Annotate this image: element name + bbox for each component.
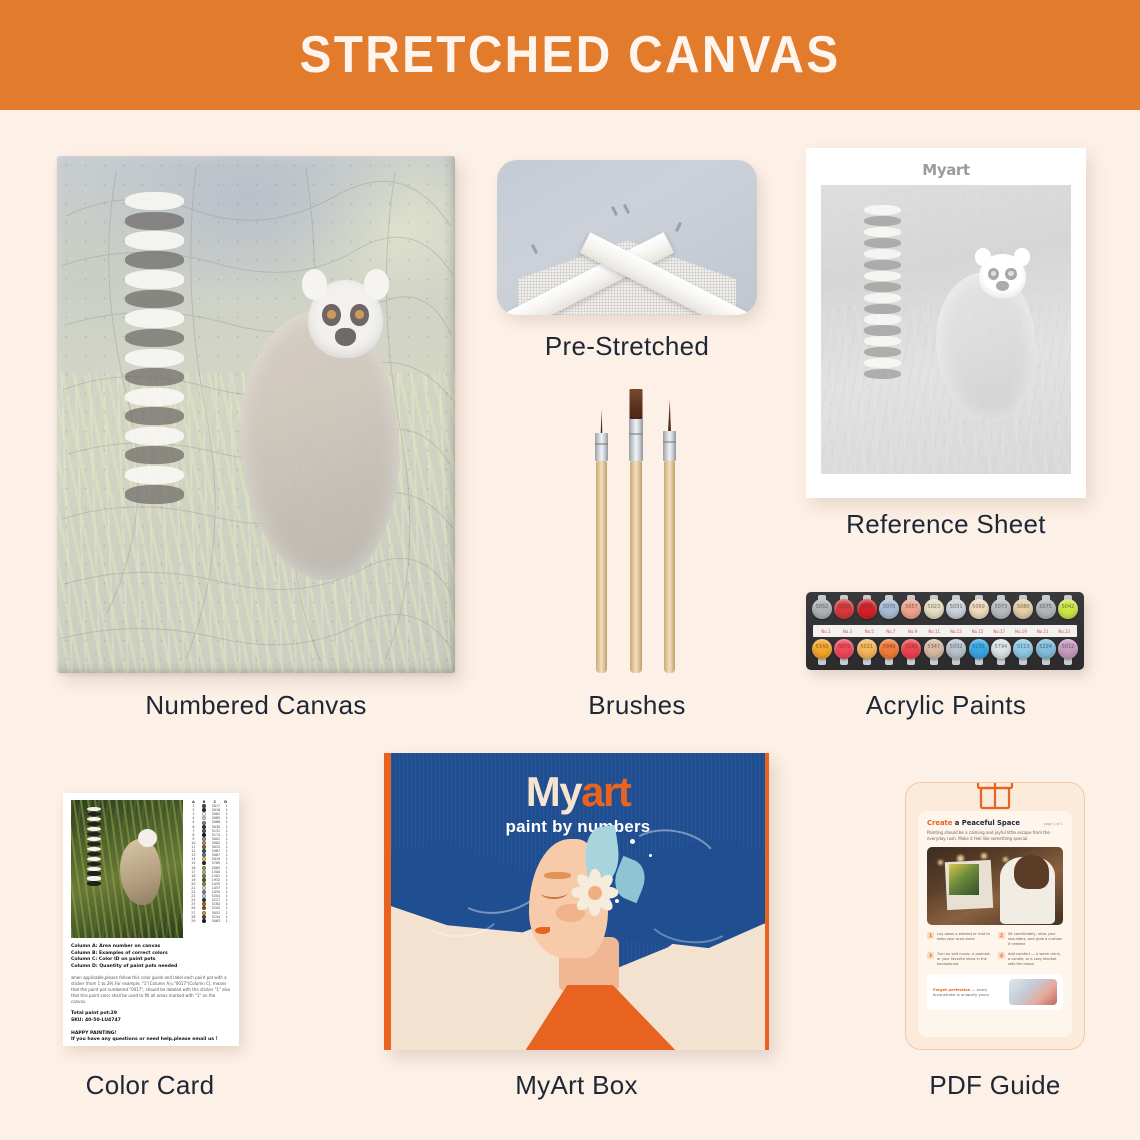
paint-pot-tab — [885, 658, 893, 665]
pdf-guide-page-number: page 1 of 1 — [1044, 822, 1063, 826]
numbered-canvas-image — [57, 156, 455, 673]
caption-brushes: Brushes — [497, 690, 777, 721]
paint-pot: 5080 — [1013, 597, 1033, 623]
paint-pot-code: 5132 — [969, 644, 989, 650]
paint-pot: 5075 — [1036, 597, 1056, 623]
caption-pre-stretched: Pre-Stretched — [497, 331, 757, 362]
cc-area-number: 29 — [188, 919, 199, 923]
pdf-guide-title-rest: a Peaceful Space — [952, 819, 1020, 827]
paint-pot: 5794 — [991, 637, 1011, 663]
brand-my-text: My — [526, 768, 581, 815]
cc-swatch-cell — [199, 919, 210, 923]
total-paint-pot: Total paint pot:29 — [71, 1011, 231, 1018]
paint-label-cell: No.5 — [858, 629, 880, 634]
lemur-ear-left — [302, 269, 328, 300]
paint-pot-code: 5794 — [991, 644, 1011, 650]
pdf-guide-footer-note: Forget perfection — every brushstroke is… — [927, 974, 1063, 1010]
lemur-snout — [335, 328, 356, 346]
paint-pot: 5042 — [1058, 597, 1078, 623]
legend-line: Column C: Color ID on paint pots — [71, 957, 231, 964]
lemur-face — [321, 300, 369, 343]
paint-pot: 5070 — [879, 597, 899, 623]
color-card-note: when applicable,please follow this color… — [71, 975, 231, 1005]
paint-pot-code: 5057 — [901, 604, 921, 610]
paint-label-cell: No.7 — [880, 629, 902, 634]
color-swatch — [202, 919, 206, 923]
lemur-eye-patch-left — [322, 304, 340, 327]
brand-art-text: art — [581, 768, 630, 815]
pdf-guide-title: Create a Peaceful Space — [927, 819, 1020, 827]
tip-text: Lay down a blanket or mat to keep your a… — [937, 932, 992, 947]
illustration-lips — [535, 927, 550, 934]
paint-pot-tab — [1064, 658, 1072, 665]
paint-pot: 5021 — [857, 637, 877, 663]
cc-quantity: 1 — [222, 919, 231, 923]
paint-pot-code: 5021 — [857, 604, 877, 610]
paint-pot-tab — [863, 658, 871, 665]
pdf-guide-tip: 4Add comfort — a warm drink, a candle, o… — [998, 952, 1063, 967]
color-card-photo — [71, 800, 183, 938]
paint-pot: 5031 — [946, 597, 966, 623]
staple-icon — [623, 204, 630, 214]
lemur-head-shape — [308, 280, 384, 358]
contact-text: If you have any questions or need help,p… — [71, 1037, 231, 1044]
tip-text: Add comfort — a warm drink, a candle, or… — [1008, 952, 1063, 967]
pdf-guide-photo — [927, 847, 1063, 925]
paint-pot-code: 5012 — [1058, 644, 1078, 650]
paint-pot-tab — [840, 658, 848, 665]
paint-label-cell: No.19 — [1010, 629, 1032, 634]
pdf-guide-thumb-image — [1009, 979, 1057, 1005]
pdf-guide-tip: 1Lay down a blanket or mat to keep your … — [927, 932, 992, 947]
brand-tagline: paint by numbers — [391, 817, 765, 837]
paint-pot-tab — [1042, 658, 1050, 665]
legend-line: Column A: Area number on canvas — [71, 944, 231, 951]
page-title: STRETCHED CANVAS — [300, 25, 841, 85]
color-card-image: A B C D 15017125018135062145065155066165… — [63, 793, 239, 1046]
paint-pot-row-top: 5052503450215070505750235031506950735080… — [812, 597, 1078, 625]
paint-pot-code: 5069 — [969, 604, 989, 610]
reference-sheet-artwork — [821, 185, 1071, 474]
staple-icon — [611, 206, 618, 216]
caption-color-card: Color Card — [40, 1070, 260, 1101]
illustration-closed-eye — [541, 887, 567, 899]
paint-pot-code: 5080 — [1013, 604, 1033, 610]
caption-reference-sheet: Reference Sheet — [806, 509, 1086, 540]
caption-acrylic-paints: Acrylic Paints — [806, 690, 1086, 721]
pdf-guide-tips-grid: 1Lay down a blanket or mat to keep your … — [927, 932, 1063, 967]
paint-pot-code: 5070 — [834, 644, 854, 650]
paint-pot: 5021 — [857, 597, 877, 623]
lemur-ringed-tail — [125, 192, 185, 518]
paint-label-cell: No.23 — [1053, 629, 1075, 634]
paint-pot: 5192 — [901, 637, 921, 663]
paint-label-cell: No.3 — [837, 629, 859, 634]
paint-label-cell: No.9 — [902, 629, 924, 634]
brushes-image — [592, 388, 680, 673]
paint-pot-code: 5075 — [1036, 604, 1056, 610]
paint-pot: 5113 — [1013, 637, 1033, 663]
caption-pdf-guide: PDF Guide — [905, 1070, 1085, 1101]
paint-pot-code: 5224 — [1036, 644, 1056, 650]
paint-label-cell: No.13 — [945, 629, 967, 634]
paint-label-cell: No.17 — [988, 629, 1010, 634]
paint-pot: 5940 — [879, 637, 899, 663]
paint-pot: 5034 — [834, 597, 854, 623]
tip-number-badge: 4 — [998, 952, 1005, 959]
paint-pot-row-bottom: 5143507050215940519253475032513257945113… — [812, 637, 1078, 665]
paint-label-cell: No.1 — [815, 629, 837, 634]
paint-pot-code: 5143 — [812, 644, 832, 650]
cc-color-id: 5063 — [210, 919, 223, 923]
color-card-lemur-tail — [87, 807, 102, 890]
paint-label-strip: No.1No.3No.5No.7No.9No.11No.13No.15No.17… — [813, 625, 1077, 637]
pre-stretched-image — [497, 160, 757, 315]
brush-round-thin — [596, 415, 607, 673]
paint-pot-code: 5032 — [946, 644, 966, 650]
gift-icon — [972, 782, 1018, 811]
lemur-eye-left — [327, 310, 335, 318]
paint-pot: 5057 — [901, 597, 921, 623]
paint-pot: 5347 — [924, 637, 944, 663]
brush-flat — [630, 388, 642, 673]
paint-pot-code: 5347 — [924, 644, 944, 650]
tip-number-badge: 3 — [927, 952, 934, 959]
paint-pot: 5070 — [834, 637, 854, 663]
caption-myart-box: MyArt Box — [384, 1070, 769, 1101]
paint-pot-code: 5940 — [879, 644, 899, 650]
sku-text: SKU: 40-50-LU4747 — [71, 1018, 231, 1025]
myart-box-image: Myart paint by numbers — [384, 753, 769, 1050]
paint-pot: 5073 — [991, 597, 1011, 623]
box-front-face: Myart paint by numbers — [391, 753, 765, 1050]
acrylic-paints-image: 5052503450215070505750235031506950735080… — [806, 592, 1084, 670]
paint-pot-code: 5113 — [1013, 644, 1033, 650]
lemur-eye-right — [355, 310, 363, 318]
paint-pot-code: 5031 — [946, 604, 966, 610]
paint-pot: 5132 — [969, 637, 989, 663]
legend-line: Column D: Quantity of paint pots needed — [71, 964, 231, 971]
myart-brand-block: Myart paint by numbers — [391, 769, 765, 837]
reference-lemur-tail — [864, 205, 902, 387]
reference-sheet-image: Myart — [806, 148, 1086, 498]
paint-pot: 5023 — [924, 597, 944, 623]
illustration-eyebrow — [544, 872, 570, 879]
paint-pot-tab — [818, 658, 826, 665]
myart-logo-text: Myart — [821, 161, 1071, 179]
paint-pot-tab — [952, 658, 960, 665]
staple-icon — [531, 244, 538, 254]
paint-pot-tab — [1019, 658, 1027, 665]
pdf-guide-title-accent: Create — [927, 819, 952, 827]
paint-pot-code: 5034 — [834, 604, 854, 610]
paint-pot: 5032 — [946, 637, 966, 663]
paint-pot: 5052 — [812, 597, 832, 623]
paint-pot-code: 5192 — [901, 644, 921, 650]
paint-pot-tab — [907, 658, 915, 665]
paint-pot-code: 5021 — [857, 644, 877, 650]
color-card-table: A B C D 15017125018135062145065155066165… — [188, 800, 231, 938]
paint-pot-tab — [975, 658, 983, 665]
tip-text: Sit comfortably, relax your shoulders, a… — [1008, 932, 1063, 947]
pdf-guide-tip: 2Sit comfortably, relax your shoulders, … — [998, 932, 1063, 947]
daisy-flower-icon — [571, 866, 620, 919]
paint-pot-code: 5073 — [991, 604, 1011, 610]
color-card-row: 2950631 — [188, 919, 231, 923]
staple-icon — [675, 222, 682, 232]
color-card-legend: Column A: Area number on canvas Column B… — [71, 944, 231, 970]
paint-pot-code: 5052 — [812, 604, 832, 610]
paint-pot-code: 5070 — [879, 604, 899, 610]
paint-label-cell: No.15 — [967, 629, 989, 634]
tip-number-badge: 1 — [927, 932, 934, 939]
pdf-guide-page: Create a Peaceful Space page 1 of 1 Pain… — [918, 811, 1072, 1037]
paint-pot: 5143 — [812, 637, 832, 663]
footer-accent-text: Forget perfection — [933, 987, 970, 992]
lemur-eye-patch-right — [350, 304, 368, 327]
paint-pot-tab — [930, 658, 938, 665]
infographic-page: STRETCHED CANVAS — [0, 0, 1140, 1140]
paint-pot: 5224 — [1036, 637, 1056, 663]
caption-numbered-canvas: Numbered Canvas — [57, 690, 455, 721]
brush-round-medium — [664, 401, 675, 673]
pdf-guide-tip: 3Turn on soft music, a podcast, or your … — [927, 952, 992, 967]
tip-number-badge: 2 — [998, 932, 1005, 939]
paint-pot-code: 5042 — [1058, 604, 1078, 610]
sparkle-dot — [649, 854, 652, 857]
paint-pot: 5012 — [1058, 637, 1078, 663]
page-header: STRETCHED CANVAS — [0, 0, 1140, 110]
pdf-guide-image: Create a Peaceful Space page 1 of 1 Pain… — [905, 782, 1085, 1050]
reference-lemur-head — [979, 254, 1027, 297]
tip-text: Turn on soft music, a podcast, or your f… — [937, 952, 992, 967]
paint-label-cell: No.11 — [923, 629, 945, 634]
pdf-guide-subtitle: Painting should be a calming and joyful … — [927, 830, 1063, 841]
paint-pot: 5069 — [969, 597, 989, 623]
paint-pot-code: 5023 — [924, 604, 944, 610]
paint-label-cell: No.21 — [1032, 629, 1054, 634]
paint-pot-tab — [997, 658, 1005, 665]
